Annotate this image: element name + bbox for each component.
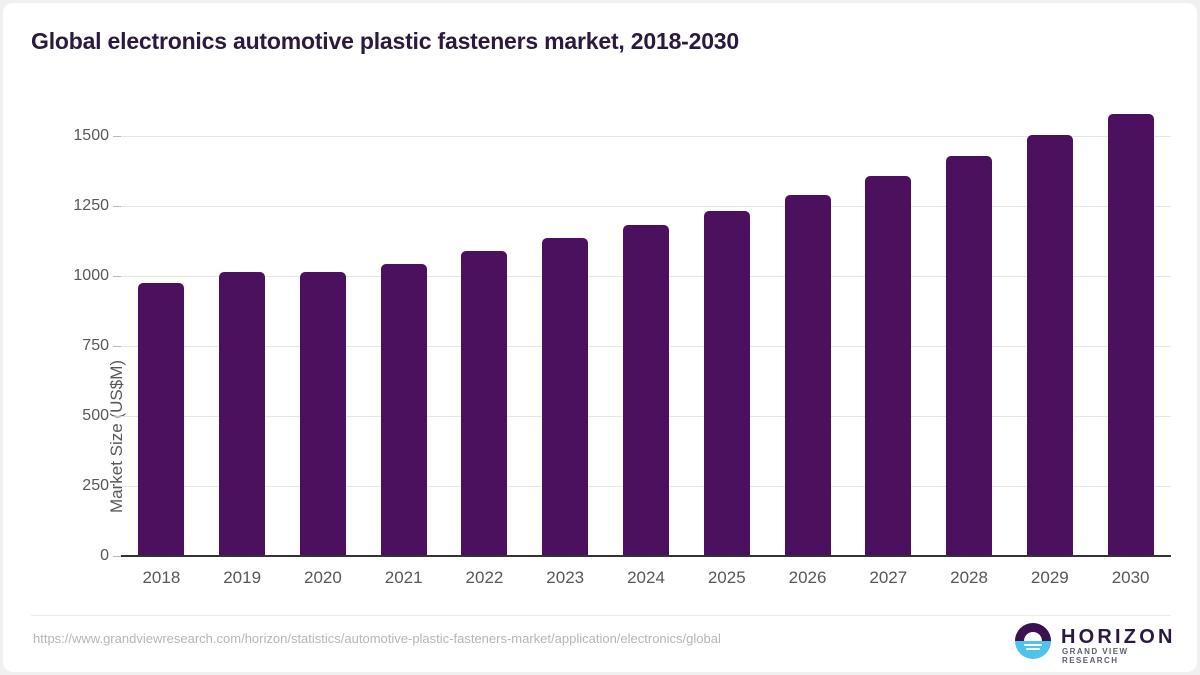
- bar[interactable]: [300, 272, 346, 556]
- y-axis-tick-mark: [113, 206, 121, 207]
- horizon-logo-icon: [1015, 623, 1051, 659]
- plot-area: Market Size (US$M) 025050075010001250150…: [121, 98, 1171, 557]
- y-axis-tick-mark: [113, 416, 121, 417]
- logo-ray-2: [1026, 648, 1040, 650]
- x-axis-tick-label: 2020: [304, 568, 342, 588]
- x-axis-tick-label: 2029: [1031, 568, 1069, 588]
- y-axis-tick-label: 750: [19, 337, 109, 355]
- x-axis-tick-label: 2026: [789, 568, 827, 588]
- logo-wordmark: HORIZON: [1061, 626, 1176, 649]
- bar-series: [121, 98, 1171, 557]
- page-title: Global electronics automotive plastic fa…: [31, 28, 739, 55]
- y-axis-tick-mark: [113, 556, 121, 557]
- bar[interactable]: [381, 264, 427, 556]
- y-axis-tick-label: 1000: [19, 267, 109, 285]
- y-axis-tick-label: 500: [19, 407, 109, 425]
- x-axis-tick-label: 2028: [950, 568, 988, 588]
- bar[interactable]: [1027, 135, 1073, 556]
- bar[interactable]: [865, 176, 911, 556]
- x-axis-tick-label: 2024: [627, 568, 665, 588]
- bar[interactable]: [946, 156, 992, 556]
- x-axis-tick-label: 2018: [142, 568, 180, 588]
- bar[interactable]: [138, 283, 184, 556]
- x-axis-tick-label: 2022: [466, 568, 504, 588]
- bar[interactable]: [542, 238, 588, 556]
- y-axis-tick-label: 250: [19, 477, 109, 495]
- bar[interactable]: [1108, 114, 1154, 556]
- horizon-logo: HORIZON GRAND VIEW RESEARCH: [1015, 621, 1173, 661]
- x-axis-tick-label: 2025: [708, 568, 746, 588]
- x-axis-tick-label: 2019: [223, 568, 261, 588]
- x-axis-tick-label: 2027: [869, 568, 907, 588]
- logo-tagline: GRAND VIEW RESEARCH: [1062, 647, 1173, 665]
- x-axis-tick-label: 2021: [385, 568, 423, 588]
- bar[interactable]: [461, 251, 507, 556]
- y-axis-tick-label: 0: [19, 547, 109, 565]
- x-axis-line: [121, 555, 1171, 557]
- bar[interactable]: [785, 195, 831, 556]
- y-axis-tick-mark: [113, 346, 121, 347]
- y-axis-tick-label: 1500: [19, 127, 109, 145]
- y-axis-tick-mark: [113, 486, 121, 487]
- y-axis-tick-mark: [113, 276, 121, 277]
- bar[interactable]: [219, 272, 265, 556]
- y-axis-tick-label: 1250: [19, 197, 109, 215]
- y-axis-tick-mark: [113, 136, 121, 137]
- chart-card: Global electronics automotive plastic fa…: [3, 3, 1197, 672]
- x-axis-tick-label: 2023: [546, 568, 584, 588]
- bar[interactable]: [623, 225, 669, 556]
- source-url[interactable]: https://www.grandviewresearch.com/horizo…: [33, 631, 721, 646]
- x-axis-tick-label: 2030: [1112, 568, 1150, 588]
- footer-divider: [31, 615, 1171, 616]
- bar[interactable]: [704, 211, 750, 556]
- logo-ray-1: [1024, 644, 1042, 646]
